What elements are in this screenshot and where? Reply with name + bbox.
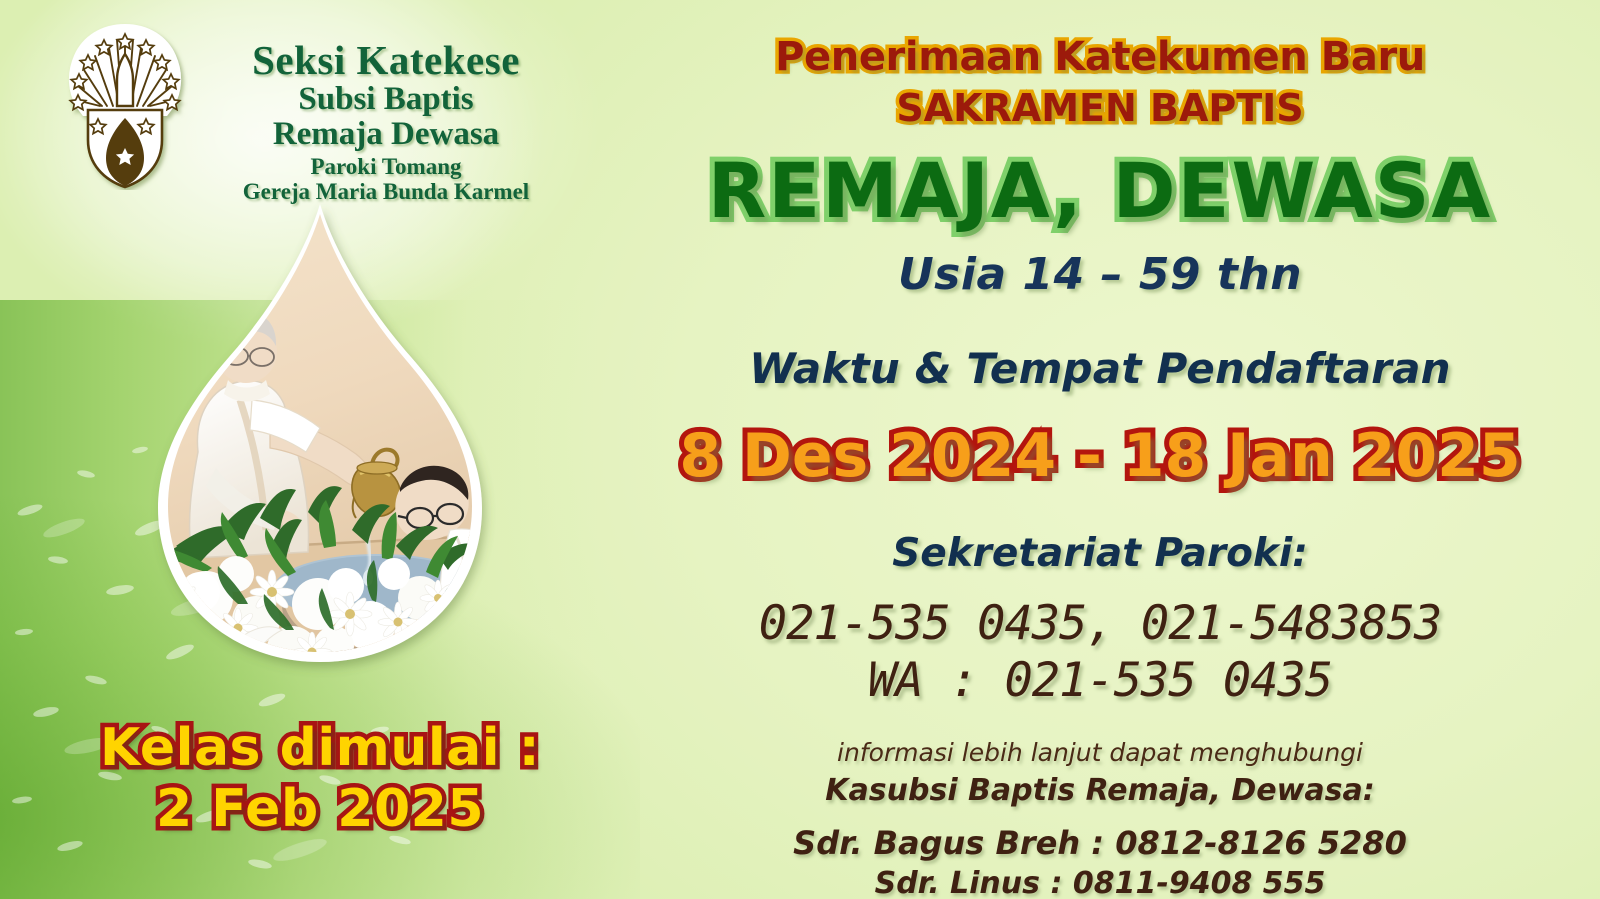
contact-person-1[interactable]: Sdr. Bagus Breh : 0812-8126 5280 [620, 824, 1580, 862]
office-phone-line-1[interactable]: 021-535 0435, 021-5483853 [620, 596, 1580, 651]
logo-line-4: Paroki Tomang [196, 155, 576, 178]
headline-line-1: Penerimaan Katekumen Baru [620, 34, 1580, 80]
office-phone-line-2[interactable]: WA : 021-535 0435 [620, 653, 1580, 708]
age-range: Usia 14 – 59 thn [620, 249, 1580, 300]
parish-logo-text: Seksi Katekese Subsi Baptis Remaja Dewas… [196, 40, 576, 203]
poster-canvas: Seksi Katekese Subsi Baptis Remaja Dewas… [0, 0, 1600, 899]
headline-line-3: REMAJA, DEWASA [620, 146, 1580, 235]
registration-period: 8 Des 2024 - 18 Jan 2025 [620, 421, 1580, 491]
logo-line-2: Subsi Baptis [196, 83, 576, 116]
logo-line-1: Seksi Katekese [196, 40, 576, 81]
carmelite-coat-of-arms-icon [62, 22, 188, 190]
announcement-column: Penerimaan Katekumen Baru SAKRAMEN BAPTI… [620, 0, 1580, 899]
class-start-label: Kelas dimulai : [60, 718, 580, 779]
class-start-block: Kelas dimulai : 2 Feb 2025 [60, 718, 580, 841]
baptism-photo-drop [120, 200, 520, 710]
baptism-photo-illustration [120, 200, 520, 710]
logo-line-3: Remaja Dewasa [196, 118, 576, 151]
contact-role: Kasubsi Baptis Remaja, Dewasa: [620, 773, 1580, 808]
parish-office-label: Sekretariat Paroki: [620, 531, 1580, 576]
class-start-date: 2 Feb 2025 [60, 779, 580, 840]
registration-heading: Waktu & Tempat Pendaftaran [620, 344, 1580, 393]
parish-logo-block: Seksi Katekese Subsi Baptis Remaja Dewas… [56, 18, 576, 193]
contact-person-2[interactable]: Sdr. Linus : 0811-9408 555 [620, 866, 1580, 899]
headline-line-2: SAKRAMEN BAPTIS [620, 86, 1580, 130]
more-info-intro: informasi lebih lanjut dapat menghubungi [620, 738, 1580, 767]
